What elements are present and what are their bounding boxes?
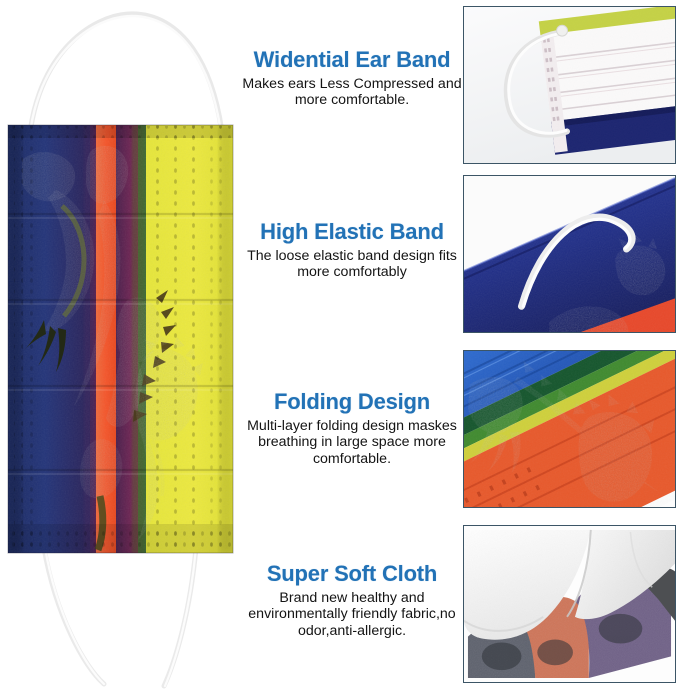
infographic-page: Widential Ear Band Makes ears Less Compr… xyxy=(0,0,679,689)
mask-body xyxy=(8,125,233,553)
feature-description: Multi-layer folding design maskes breath… xyxy=(236,418,468,467)
feature-super-soft-cloth: Super Soft Cloth Brand new healthy and e… xyxy=(236,562,468,639)
soft-cloth-closeup-image xyxy=(464,526,675,682)
detail-panel-soft-cloth xyxy=(463,525,676,683)
mask-illustration xyxy=(0,0,238,689)
elastic-band-closeup-image xyxy=(464,176,675,332)
folding-design-closeup-image xyxy=(464,351,675,507)
ear-band-closeup-image xyxy=(464,7,675,163)
feature-description: Brand new healthy and environmentally fr… xyxy=(236,590,468,639)
feature-list: Widential Ear Band Makes ears Less Compr… xyxy=(236,0,468,689)
detail-panel-folding-design xyxy=(463,350,676,508)
feature-high-elastic-band: High Elastic Band The loose elastic band… xyxy=(236,220,468,281)
feature-title: Folding Design xyxy=(236,390,468,415)
detail-panel-ear-band xyxy=(463,6,676,164)
feature-folding-design: Folding Design Multi-layer folding desig… xyxy=(236,390,468,467)
feature-description: The loose elastic band design fits more … xyxy=(236,248,468,281)
hero-product-image xyxy=(0,0,238,689)
feature-title: Widential Ear Band xyxy=(236,48,468,73)
detail-panel-list xyxy=(463,0,679,689)
feature-title: High Elastic Band xyxy=(236,220,468,245)
feature-title: Super Soft Cloth xyxy=(236,562,468,587)
feature-description: Makes ears Less Compressed and more comf… xyxy=(236,76,468,109)
detail-panel-elastic-band xyxy=(463,175,676,333)
feature-widential-ear-band: Widential Ear Band Makes ears Less Compr… xyxy=(236,48,468,109)
